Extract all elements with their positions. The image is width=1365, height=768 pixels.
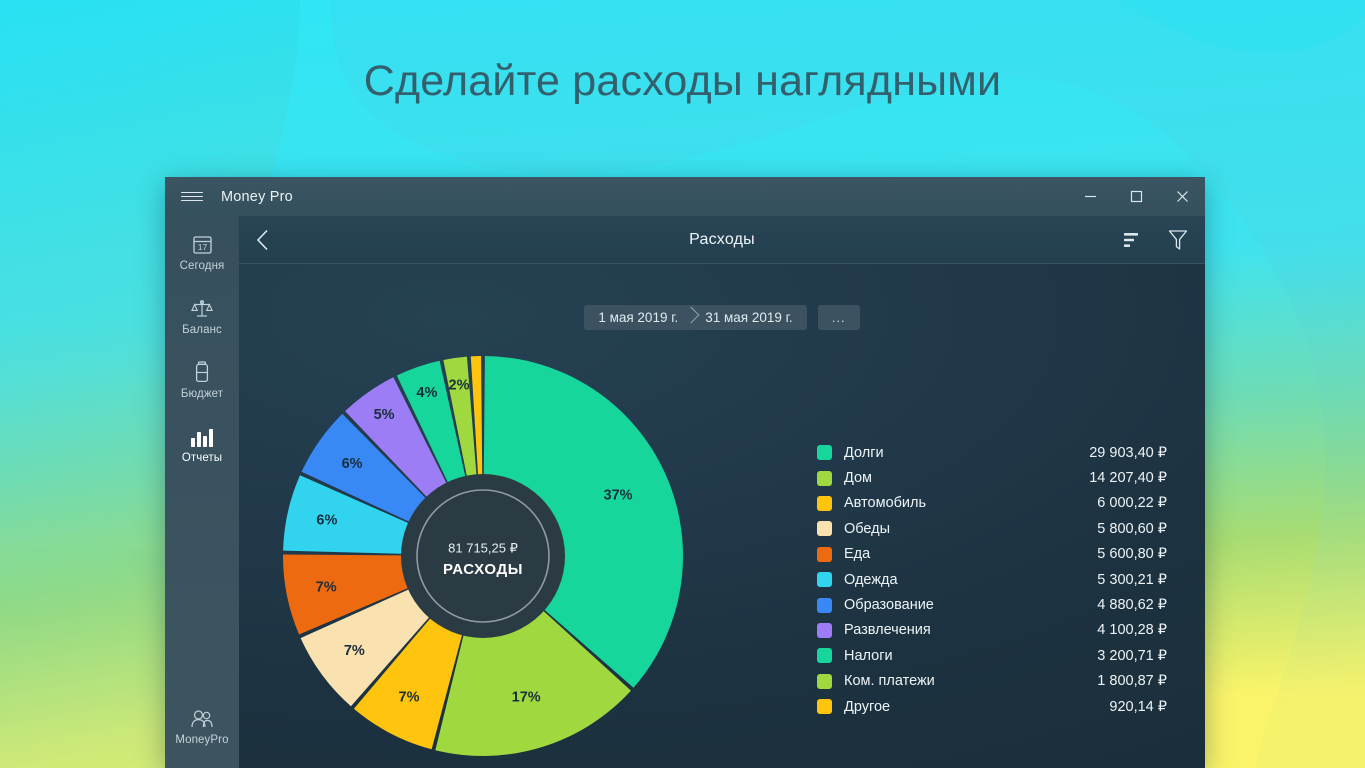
legend-color-swatch <box>817 471 832 486</box>
legend-amount-value: 29 903,40 ₽ <box>1089 445 1167 461</box>
sidebar-account[interactable]: MoneyPro <box>165 694 239 758</box>
donut-slice-percent: 7% <box>316 579 337 595</box>
date-range-segments: 1 мая 2019 г. 31 мая 2019 г. <box>584 305 806 330</box>
legend-category-label: Развлечения <box>844 622 1097 638</box>
legend-category-label: Еда <box>844 546 1097 562</box>
sidebar-account-label: MoneyPro <box>175 734 228 746</box>
legend-color-swatch <box>817 623 832 638</box>
legend-row[interactable]: Налоги3 200,71 ₽ <box>817 643 1167 668</box>
content-header-actions <box>1117 225 1193 255</box>
sidebar-item-label: Бюджет <box>181 388 223 400</box>
calendar-icon: 17 <box>192 233 213 255</box>
donut-slice-percent: 6% <box>316 513 337 529</box>
legend-amount-value: 1 800,87 ₽ <box>1097 673 1167 689</box>
battery-icon <box>194 361 210 383</box>
legend-row[interactable]: Образование4 880,62 ₽ <box>817 592 1167 617</box>
legend-amount-value: 5 800,60 ₽ <box>1097 521 1167 537</box>
legend-category-label: Ком. платежи <box>844 673 1097 689</box>
sidebar-item-balance[interactable]: Баланс <box>165 284 239 348</box>
donut-slice-percent: 17% <box>512 689 541 705</box>
sidebar-item-label: Сегодня <box>180 260 225 272</box>
sort-icon[interactable] <box>1117 225 1147 255</box>
donut-center-caption: РАСХОДЫ <box>443 561 523 578</box>
minimize-icon[interactable] <box>1067 177 1113 216</box>
legend-color-swatch <box>817 674 832 689</box>
donut-hole <box>401 474 565 638</box>
legend-color-swatch <box>817 598 832 613</box>
sidebar-item-budget[interactable]: Бюджет <box>165 348 239 412</box>
legend-category-label: Автомобиль <box>844 495 1097 511</box>
window-title: Money Pro <box>221 189 293 205</box>
window-controls <box>1067 177 1205 216</box>
page-title: Сделайте расходы наглядными <box>0 57 1365 106</box>
legend-category-label: Налоги <box>844 648 1097 664</box>
date-range-selector: 1 мая 2019 г. 31 мая 2019 г. ... <box>239 305 1205 330</box>
sidebar: 17 Сегодня Баланс <box>165 216 239 768</box>
content-title: Расходы <box>239 231 1205 249</box>
funnel-icon[interactable] <box>1163 225 1193 255</box>
legend-color-swatch <box>817 547 832 562</box>
scales-icon <box>191 297 213 319</box>
date-range-start[interactable]: 1 мая 2019 г. <box>584 305 700 330</box>
expenses-donut-chart: 81 715,25 ₽ РАСХОДЫ 37%17%7%7%7%6%6%5%4%… <box>273 346 693 766</box>
sidebar-items: 17 Сегодня Баланс <box>165 216 239 476</box>
legend-color-swatch <box>817 521 832 536</box>
donut-slice-percent: 7% <box>399 690 420 706</box>
donut-slice-percent: 7% <box>344 643 365 659</box>
sidebar-item-today[interactable]: 17 Сегодня <box>165 220 239 284</box>
legend-color-swatch <box>817 572 832 587</box>
bar-chart-icon <box>190 425 214 447</box>
legend-row[interactable]: Долги29 903,40 ₽ <box>817 440 1167 465</box>
donut-slice-percent: 37% <box>604 487 633 503</box>
legend-amount-value: 14 207,40 ₽ <box>1089 470 1167 486</box>
svg-text:17: 17 <box>197 242 207 252</box>
maximize-icon[interactable] <box>1113 177 1159 216</box>
legend-amount-value: 4 880,62 ₽ <box>1097 597 1167 613</box>
users-icon <box>189 707 215 729</box>
donut-slice-percent: 6% <box>342 456 363 472</box>
sidebar-item-reports[interactable]: Отчеты <box>165 412 239 476</box>
money-pro-window: Money Pro <box>165 177 1205 768</box>
legend-category-label: Обеды <box>844 521 1097 537</box>
legend-row[interactable]: Развлечения4 100,28 ₽ <box>817 618 1167 643</box>
sidebar-item-label: Баланс <box>182 324 222 336</box>
chevron-left-icon[interactable] <box>239 216 287 263</box>
legend-row[interactable]: Автомобиль6 000,22 ₽ <box>817 491 1167 516</box>
legend-color-swatch <box>817 699 832 714</box>
legend-row[interactable]: Еда5 600,80 ₽ <box>817 542 1167 567</box>
legend-row[interactable]: Обеды5 800,60 ₽ <box>817 516 1167 541</box>
close-icon[interactable] <box>1159 177 1205 216</box>
sidebar-item-label: Отчеты <box>182 452 222 464</box>
date-range-end[interactable]: 31 мая 2019 г. <box>685 305 806 330</box>
donut-slice-percent: 2% <box>449 378 470 394</box>
legend-amount-value: 920,14 ₽ <box>1109 699 1167 715</box>
legend-category-label: Другое <box>844 699 1109 715</box>
legend-category-label: Одежда <box>844 572 1097 588</box>
legend-color-swatch <box>817 496 832 511</box>
legend-color-swatch <box>817 648 832 663</box>
window-title-bar: Money Pro <box>165 177 1205 216</box>
donut-slice-percent: 5% <box>374 407 395 423</box>
legend-amount-value: 3 200,71 ₽ <box>1097 648 1167 664</box>
legend-amount-value: 4 100,28 ₽ <box>1097 622 1167 638</box>
donut-slice-percent: 4% <box>416 385 437 401</box>
legend-row[interactable]: Ком. платежи1 800,87 ₽ <box>817 669 1167 694</box>
legend-row[interactable]: Дом14 207,40 ₽ <box>817 465 1167 490</box>
content-header: Расходы <box>239 216 1205 264</box>
donut-center-total: 81 715,25 ₽ <box>448 540 518 555</box>
legend-amount-value: 6 000,22 ₽ <box>1097 495 1167 511</box>
legend-row[interactable]: Другое920,14 ₽ <box>817 694 1167 719</box>
legend-category-label: Долги <box>844 445 1089 461</box>
main-content: Расходы 1 мая 2019 г. <box>239 216 1205 768</box>
legend-category-label: Образование <box>844 597 1097 613</box>
legend-row[interactable]: Одежда5 300,21 ₽ <box>817 567 1167 592</box>
legend-color-swatch <box>817 445 832 460</box>
date-range-more-button[interactable]: ... <box>818 305 860 330</box>
legend-category-label: Дом <box>844 470 1089 486</box>
hamburger-icon[interactable] <box>165 177 219 216</box>
legend-amount-value: 5 600,80 ₽ <box>1097 546 1167 562</box>
expenses-legend: Долги29 903,40 ₽Дом14 207,40 ₽Автомобиль… <box>817 440 1167 719</box>
legend-amount-value: 5 300,21 ₽ <box>1097 572 1167 588</box>
sidebar-item-account[interactable]: MoneyPro <box>165 694 239 758</box>
